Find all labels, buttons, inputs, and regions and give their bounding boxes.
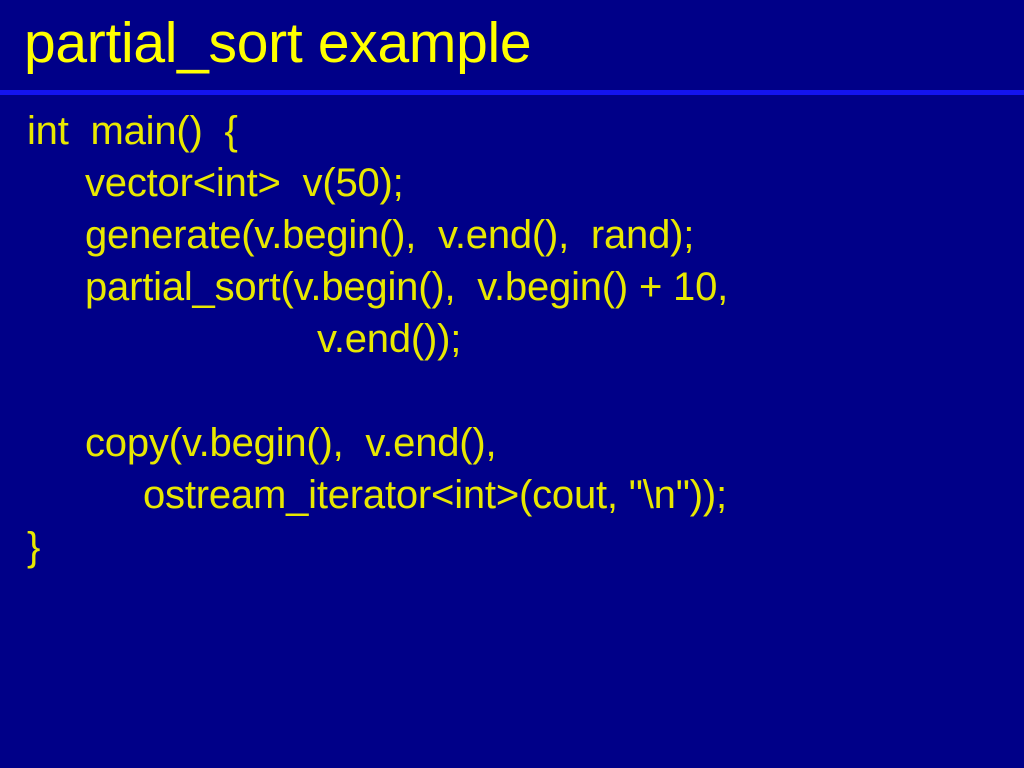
code-line: copy(v.begin(), v.end(),	[85, 417, 496, 469]
code-line: v.end());	[317, 313, 461, 365]
slide-title-bar: partial_sort example	[0, 0, 1024, 93]
title-divider-rule	[0, 90, 1024, 95]
slide-code-block: int main() {vector<int> v(50);generate(v…	[0, 97, 1024, 768]
code-line: int main() {	[27, 105, 238, 157]
code-line: partial_sort(v.begin(), v.begin() + 10,	[85, 261, 728, 313]
slide: partial_sort example int main() {vector<…	[0, 0, 1024, 768]
code-line: generate(v.begin(), v.end(), rand);	[85, 209, 694, 261]
code-line: }	[27, 521, 40, 573]
page-title: partial_sort example	[24, 7, 531, 79]
code-line: ostream_iterator<int>(cout, "\n"));	[143, 469, 727, 521]
code-line: vector<int> v(50);	[85, 157, 404, 209]
